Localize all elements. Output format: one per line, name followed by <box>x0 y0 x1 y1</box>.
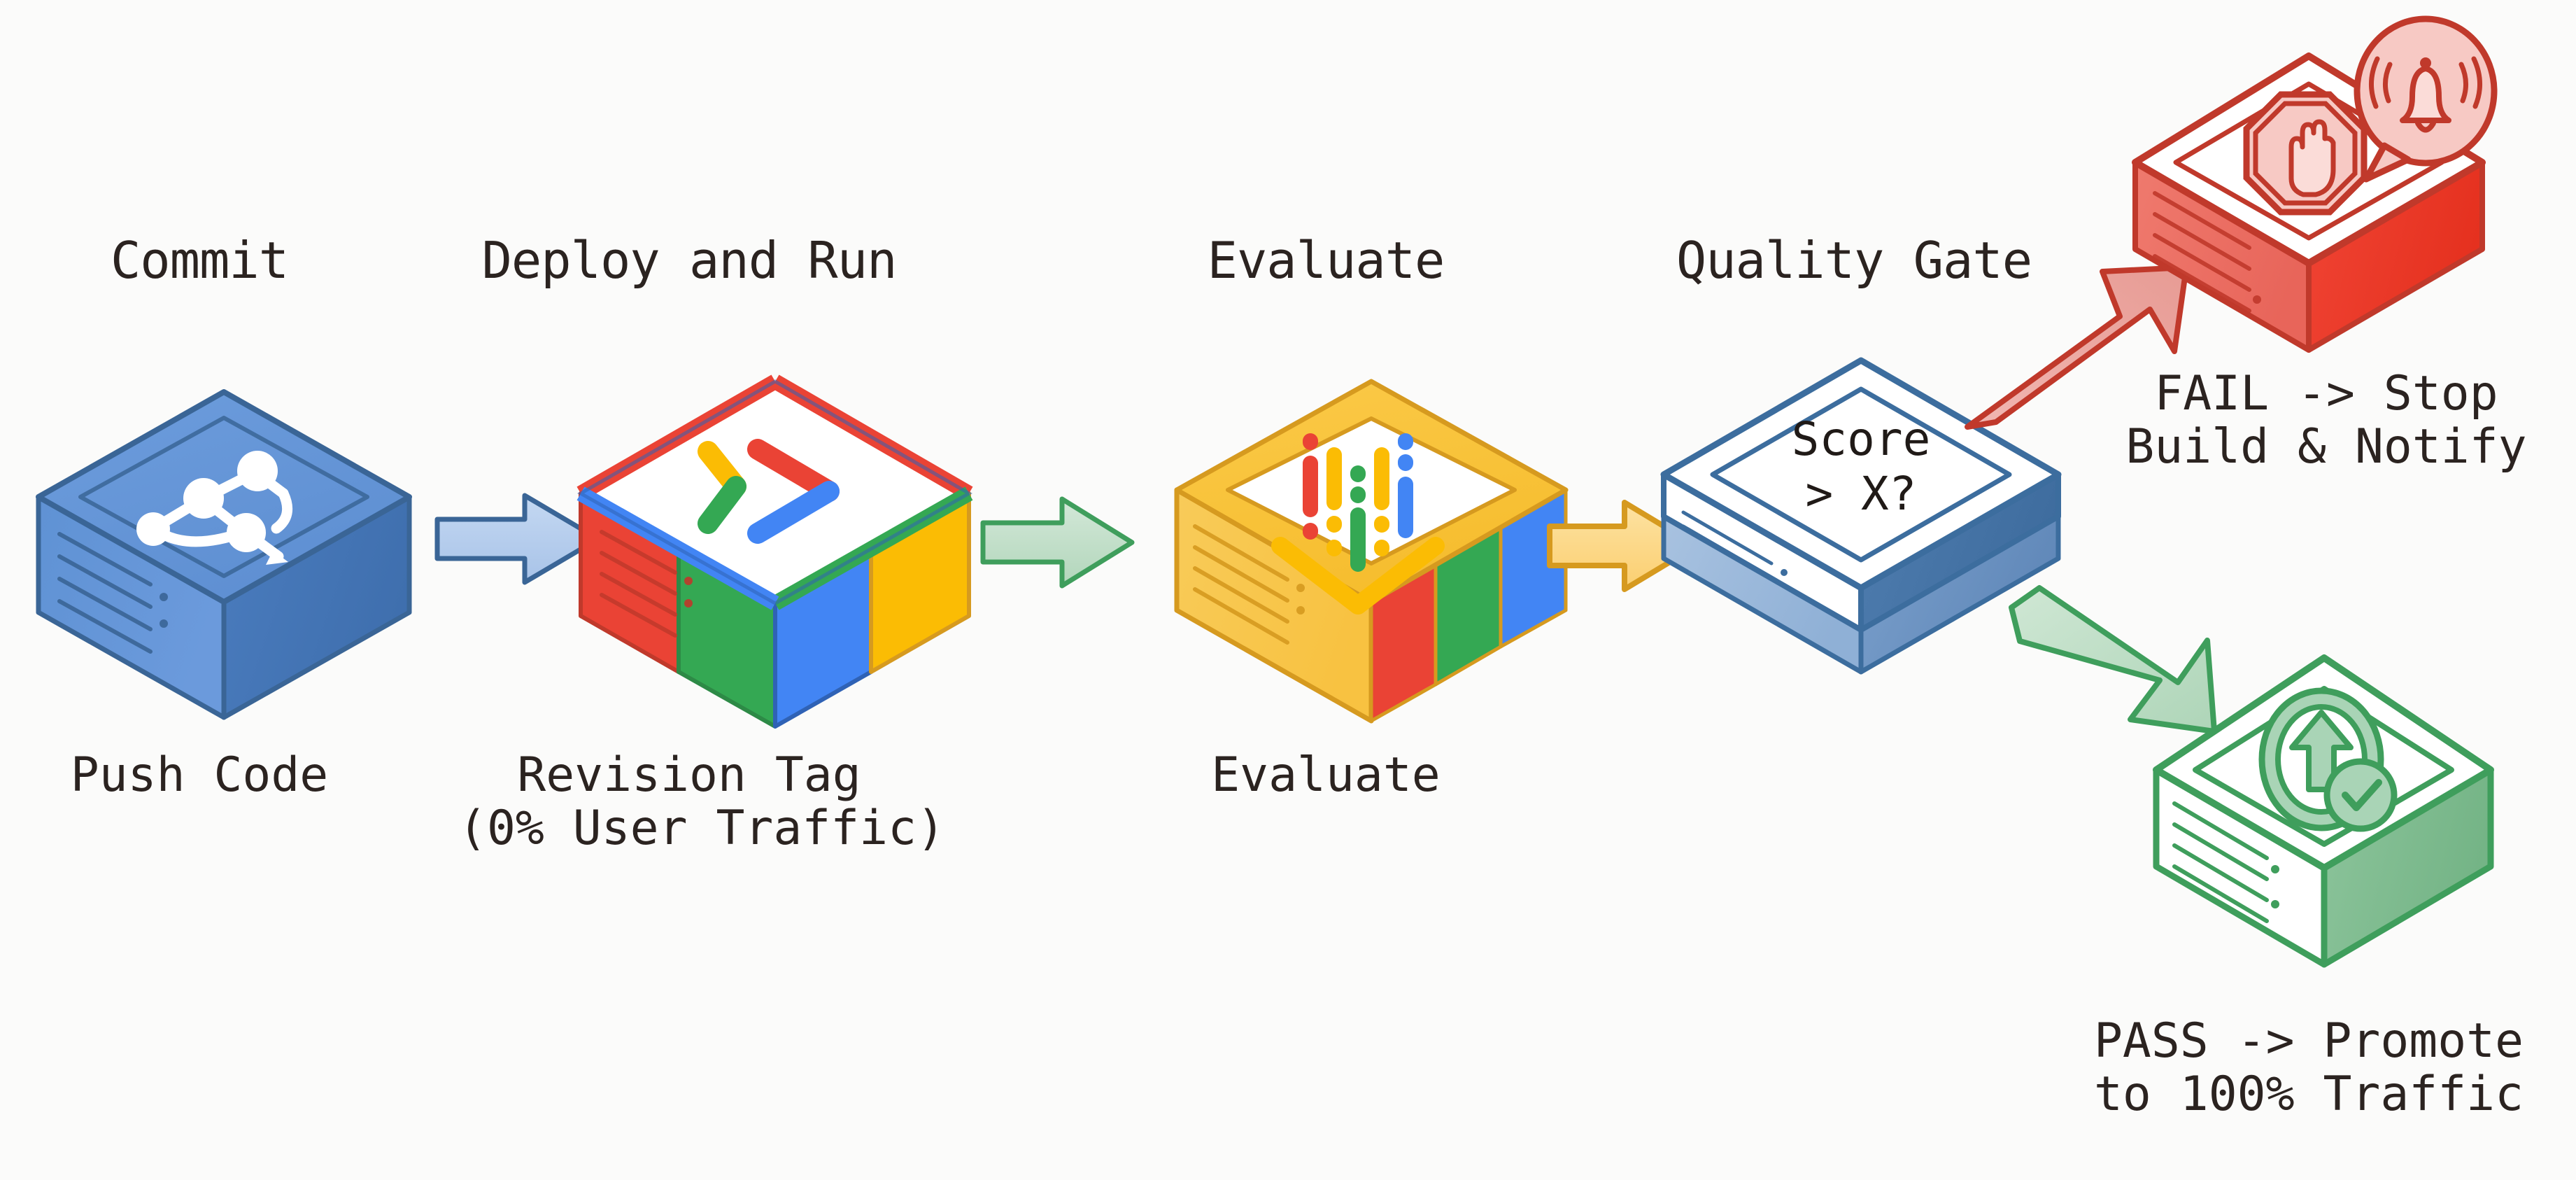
node-commit[interactable] <box>14 353 462 724</box>
stage-caption-commit: Push Code <box>0 749 399 802</box>
stage-header-evaluate: Evaluate <box>1112 231 1539 290</box>
outcome-caption-pass: PASS -> Promote to 100% Traffic <box>2050 1015 2568 1121</box>
stage-header-deploy-and-run: Deploy and Run <box>465 231 913 290</box>
stage-caption-evaluate: Evaluate <box>1112 749 1539 802</box>
stop-hand-icon <box>2246 94 2364 212</box>
connector-deploy-to-evaluate <box>979 486 1140 598</box>
stage-caption-deploy-and-run: Revision Tag (0% User Traffic) <box>458 749 920 855</box>
node-outcome-pass[interactable] <box>2141 630 2533 994</box>
node-deploy-and-run[interactable] <box>553 343 1014 742</box>
fail-box-led <box>2253 295 2261 304</box>
node-outcome-fail[interactable] <box>2120 14 2554 364</box>
node-evaluate[interactable] <box>1161 343 1595 735</box>
stage-header-commit: Commit <box>0 231 399 290</box>
quality-gate-label-line2: > X? <box>1806 467 1917 521</box>
quality-gate-led <box>1781 569 1788 576</box>
quality-gate-label-line1: Score <box>1792 412 1931 466</box>
